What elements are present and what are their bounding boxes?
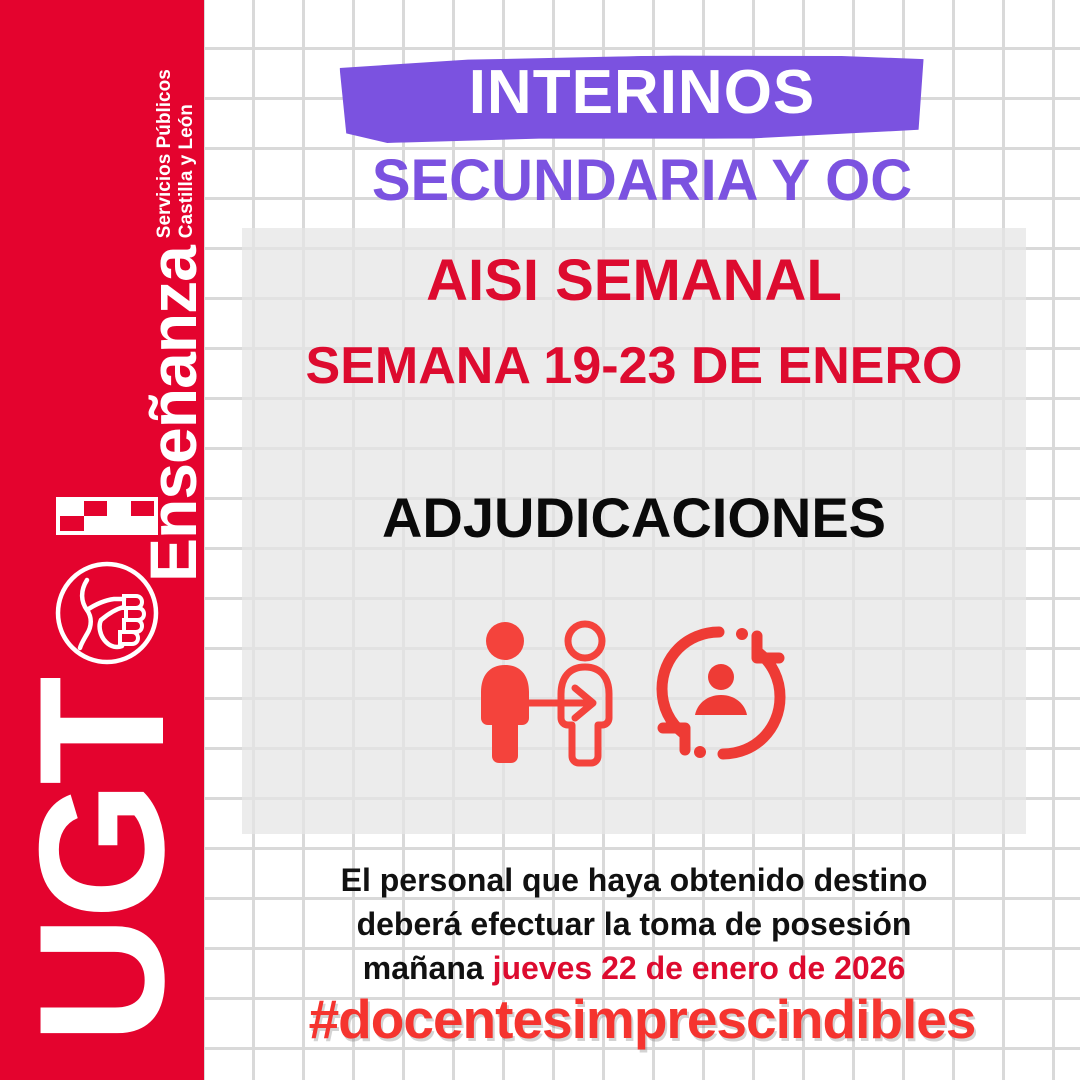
- note-line-3-highlight: jueves 22 de enero de 2026: [493, 950, 906, 986]
- fesp-bar-col-1: [60, 501, 84, 531]
- fesp-bar-col-3: [107, 501, 131, 531]
- ugt-logotype: UGT: [0, 672, 204, 1052]
- poster-canvas: Enseñanza Servicios Públicos Castilla y …: [0, 0, 1080, 1080]
- brand-block: Enseñanza Servicios Públicos Castilla y …: [0, 120, 204, 480]
- brand-subtitle: Servicios Públicos Castilla y León: [154, 69, 198, 238]
- note-line-1: El personal que haya obtenido destino: [242, 858, 1026, 902]
- note-line-3: mañana jueves 22 de enero de 2026: [242, 946, 1026, 990]
- ugt-letters: UGT: [13, 680, 191, 1044]
- secundaria-subtitle: SECUNDARIA Y OC: [204, 152, 1080, 210]
- fesp-bar-col-4: [131, 501, 155, 531]
- person-transfer-icon: [472, 618, 628, 768]
- person-rotation-icon: [646, 618, 796, 768]
- panel-week-range: SEMANA 19-23 DE ENERO: [242, 340, 1026, 392]
- brand-subtitle-line2: Castilla y León: [176, 104, 197, 238]
- panel-icon-row: [242, 605, 1026, 780]
- fesp-bar-col-2: [84, 501, 108, 531]
- interinos-header: INTERINOS: [204, 54, 1080, 146]
- note-line-3-prefix: mañana: [363, 950, 493, 986]
- handshake-icon: [54, 560, 160, 666]
- brand-subtitle-line1: Servicios Públicos: [154, 69, 175, 238]
- fesp-bar-mark-icon: [56, 497, 158, 535]
- panel-heading: AISI SEMANAL: [242, 252, 1026, 310]
- union-sidebar: Enseñanza Servicios Públicos Castilla y …: [0, 0, 204, 1080]
- note-text: El personal que haya obtenido destino de…: [242, 858, 1026, 990]
- panel-topic: ADJUDICACIONES: [242, 490, 1026, 546]
- note-line-2: deberá efectuar la toma de posesión: [242, 902, 1026, 946]
- interinos-label: INTERINOS: [204, 62, 1080, 124]
- campaign-hashtag: #docentesimprescindibles: [204, 992, 1080, 1047]
